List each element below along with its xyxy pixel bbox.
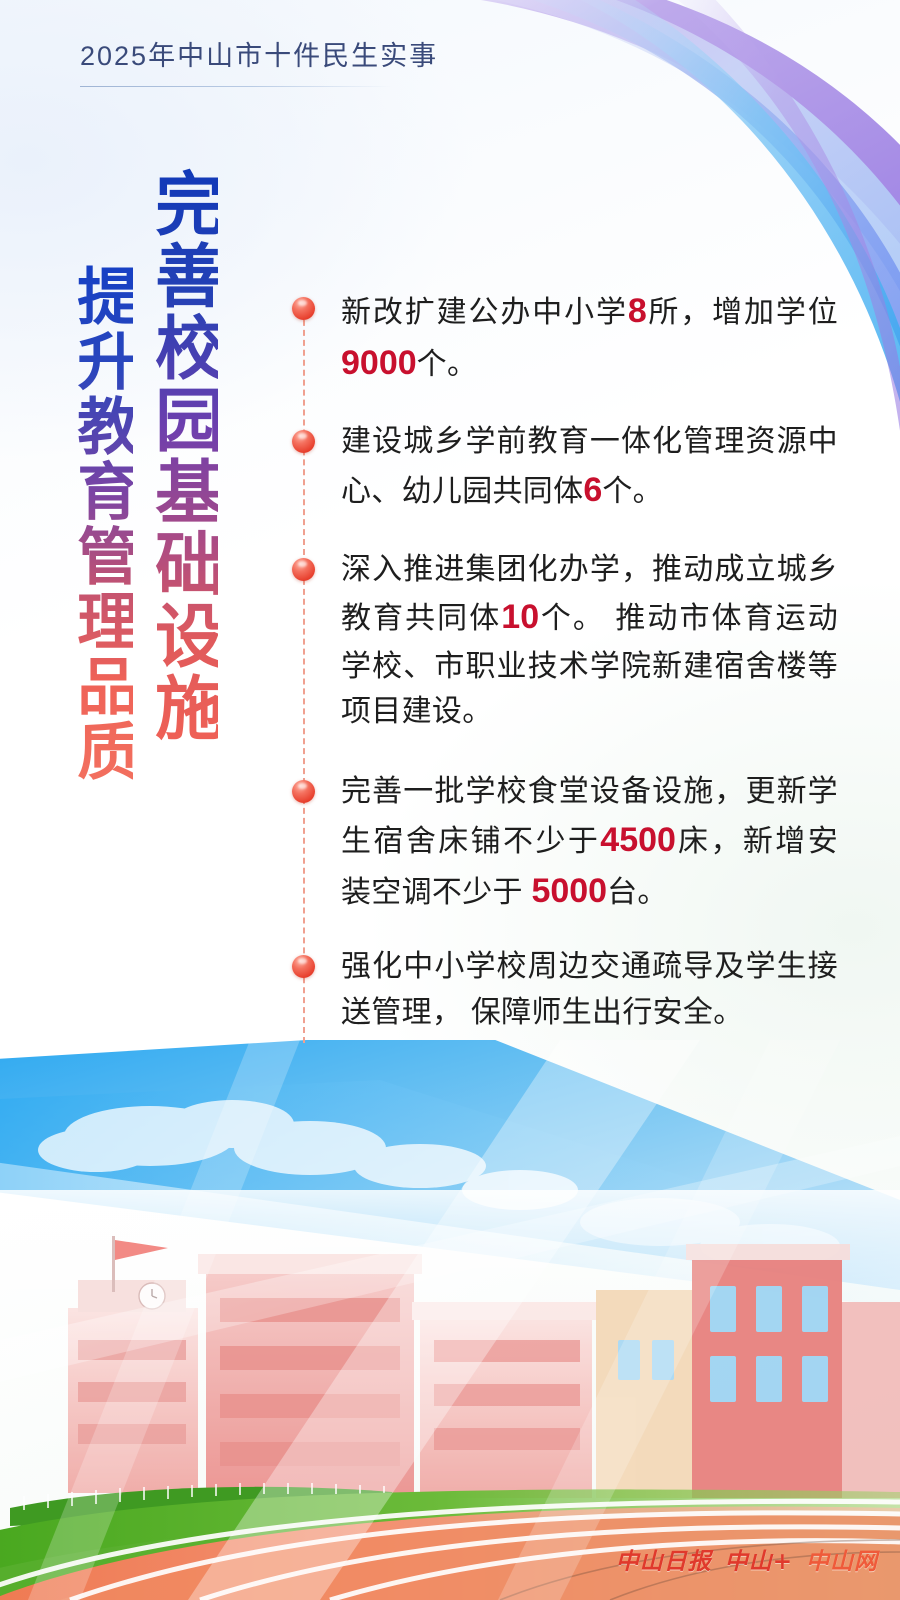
text-run: 个。 [602, 475, 663, 508]
list-item-text: 完善一批学校食堂设备设施，更新学生宿舍床铺不少于4500床，新增安装空调不少于 … [341, 769, 838, 918]
list-item: 新改扩建公办中小学8所，增加学位9000个。 [292, 286, 838, 389]
text-run: 新改扩建公办中小学 [341, 296, 628, 329]
text-run: 所，增加学位 [647, 296, 838, 329]
measures-list: 新改扩建公办中小学8所，增加学位9000个。建设城乡学前教育一体化管理资源中心、… [292, 286, 838, 1035]
logo-zhongshan-daily: 中山日报 [616, 1542, 712, 1576]
list-item-text: 强化中小学校周边交通疏导及学生接送管理， 保障师生出行安全。 [341, 944, 838, 1035]
list-item: 完善一批学校食堂设备设施，更新学生宿舍床铺不少于4500床，新增安装空调不少于 … [292, 769, 838, 918]
bullet-dot-icon [292, 297, 315, 320]
header: 2025年中山市十件民生实事 [80, 40, 510, 87]
logo-zhongshan-plus: 中山+ [725, 1542, 793, 1576]
page-title: 2025年中山市十件民生实事 [80, 40, 510, 74]
list-item: 建设城乡学前教育一体化管理资源中心、幼儿园共同体6个。 [292, 419, 838, 516]
campus-illustration [0, 1040, 900, 1600]
text-run: 强化中小学校周边交通疏导及学生接送管理， 保障师生出行安全。 [341, 950, 838, 1029]
list-item-text: 新改扩建公办中小学8所，增加学位9000个。 [341, 286, 838, 389]
header-divider [80, 86, 392, 88]
bullet-dot-icon [292, 780, 315, 803]
headline-sub: 提升教育管理品质 [70, 264, 133, 784]
bullet-dot-icon [292, 430, 315, 453]
poster-root: 2025年中山市十件民生实事 完善校园基础设施 提升教育管理品质 新改扩建公办中… [0, 0, 900, 1600]
highlight-number: 9000 [341, 344, 417, 382]
highlight-number: 6 [583, 471, 602, 509]
list-item: 强化中小学校周边交通疏导及学生接送管理， 保障师生出行安全。 [292, 944, 838, 1035]
text-run: 台。 [607, 876, 668, 909]
list-item-text: 建设城乡学前教育一体化管理资源中心、幼儿园共同体6个。 [341, 419, 838, 516]
bullet-dot-icon [292, 955, 315, 978]
bullet-dot-icon [292, 558, 315, 581]
logo-zhongshan-net: 中山网 [806, 1542, 878, 1576]
highlight-number: 5000 [531, 872, 607, 910]
footer-logos: 中山日报 中山+ 中山网 [616, 1542, 878, 1576]
headline-group: 完善校园基础设施 提升教育管理品质 [70, 168, 218, 784]
highlight-number: 10 [501, 598, 539, 636]
list-item: 深入推进集团化办学，推动成立城乡教育共同体10个。 推动市体育运动学校、市职业技… [292, 547, 838, 735]
text-run: 个。 [417, 348, 478, 381]
list-item-text: 深入推进集团化办学，推动成立城乡教育共同体10个。 推动市体育运动学校、市职业技… [341, 547, 838, 735]
highlight-number: 4500 [600, 821, 676, 859]
highlight-number: 8 [628, 292, 647, 330]
headline-main: 完善校园基础设施 [147, 168, 217, 744]
